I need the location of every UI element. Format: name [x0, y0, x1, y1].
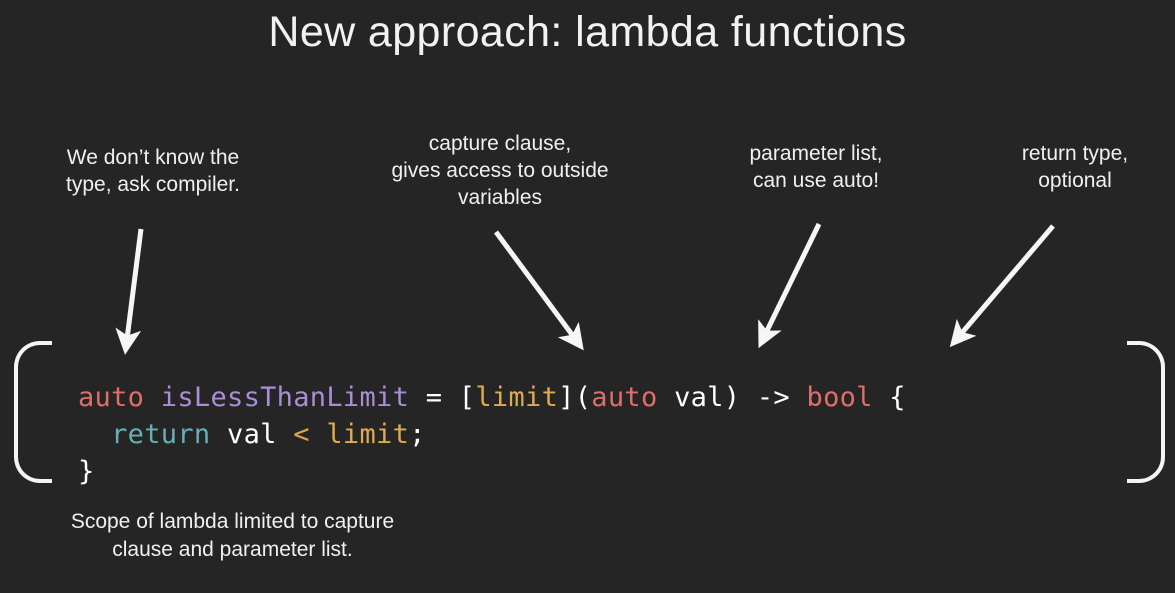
- code-token-type: auto: [78, 382, 144, 413]
- code-line: return val < limit;: [78, 419, 426, 450]
- code-token-var: limit: [326, 419, 409, 450]
- code-line: auto isLessThanLimit = [limit](auto val)…: [78, 382, 906, 413]
- scope-bracket-right: [1127, 341, 1165, 483]
- code-token-var: limit: [475, 382, 558, 413]
- code-token-kw: return: [111, 419, 210, 450]
- code-token-type: bool: [807, 382, 873, 413]
- code-token-plain: [144, 382, 161, 413]
- code-token-plain: ](: [558, 382, 591, 413]
- callout-parameter-list: parameter list, can use auto!: [700, 141, 932, 195]
- code-line: }: [78, 456, 95, 487]
- code-token-plain: }: [78, 456, 95, 487]
- slide-canvas: New approach: lambda functions We don’t …: [0, 0, 1175, 593]
- arrow-to-auto: [126, 229, 141, 347]
- arrow-to-params: [762, 224, 819, 341]
- arrow-to-return: [955, 226, 1053, 341]
- callout-type-hint: We don’t know the type, ask compiler.: [8, 145, 298, 199]
- code-token-plain: [78, 419, 111, 450]
- footnote-scope-note: Scope of lambda limited to capture claus…: [0, 508, 465, 564]
- code-block: auto isLessThanLimit = [limit](auto val)…: [78, 379, 906, 490]
- code-token-plain: = [: [409, 382, 475, 413]
- arrow-overlay: [0, 0, 1175, 593]
- code-token-plain: ;: [409, 419, 426, 450]
- code-token-name: isLessThanLimit: [161, 382, 409, 413]
- code-token-plain: {: [873, 382, 906, 413]
- arrow-to-capture: [496, 232, 579, 344]
- code-token-plain: val: [210, 419, 293, 450]
- callout-capture-clause: capture clause, gives access to outside …: [330, 131, 670, 212]
- page-title: New approach: lambda functions: [0, 8, 1175, 57]
- code-token-op: <: [293, 419, 310, 450]
- code-token-plain: val) ->: [658, 382, 807, 413]
- code-token-plain: [310, 419, 327, 450]
- callout-return-type: return type, optional: [975, 141, 1175, 195]
- code-token-type: auto: [591, 382, 657, 413]
- scope-bracket-left: [14, 341, 52, 483]
